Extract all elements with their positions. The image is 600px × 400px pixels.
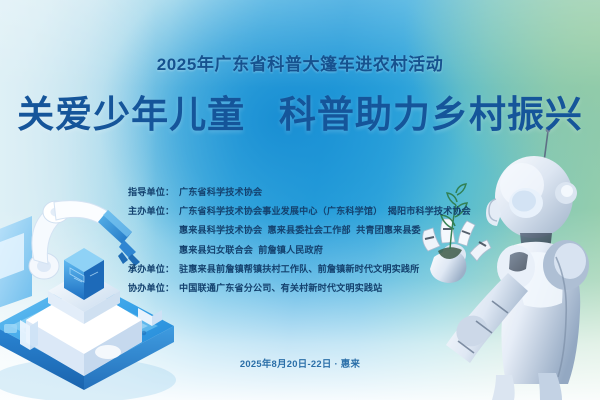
organizer-value: 驻惠来县前詹镇帮镇扶村工作队、前詹镇新时代文明实践所 (179, 263, 419, 276)
poster-content: 2025年广东省科普大篷车进农村活动 关爱少年儿童 科普助力乡村振兴 指导单位：… (0, 0, 600, 400)
organizer-row: 主办单位： 广东省科学技术协会事业发展中心（广东科学馆） 揭阳市科学技术协会 (128, 205, 528, 224)
organizer-value: 中国联通广东省分公司、有关村新时代文明实践站 (179, 282, 382, 295)
organizer-value: 惠来县科学技术协会 惠来县委社会工作部 共青团惠来县委 (179, 224, 421, 237)
organizer-row: 惠来县科学技术协会 惠来县委社会工作部 共青团惠来县委 (128, 224, 528, 243)
organizer-label: 指导单位： (128, 186, 179, 199)
organizer-value: 广东省科学技术协会事业发展中心（广东科学馆） 揭阳市科学技术协会 (179, 205, 471, 218)
event-kicker-title: 2025年广东省科普大篷车进农村活动 (0, 50, 600, 75)
organizer-row: 惠来县妇女联合会 前詹镇人民政府 (128, 244, 528, 263)
organizer-label: 主办单位： (128, 205, 179, 218)
organizer-value: 广东省科学技术协会 (179, 186, 262, 199)
poster-canvas: 2025年广东省科普大篷车进农村活动 关爱少年儿童 科普助力乡村振兴 指导单位：… (0, 0, 600, 400)
organizer-row: 指导单位： 广东省科学技术协会 (128, 186, 528, 205)
event-date-location: 2025年8月20日-22日 · 惠来 (0, 356, 600, 370)
organizer-row: 协办单位： 中国联通广东省分公司、有关村新时代文明实践站 (128, 282, 528, 301)
page-title: 关爱少年儿童 科普助力乡村振兴 (0, 93, 600, 137)
organizer-row: 承办单位： 驻惠来县前詹镇帮镇扶村工作队、前詹镇新时代文明实践所 (128, 263, 528, 282)
organizer-value: 惠来县妇女联合会 前詹镇人民政府 (179, 244, 323, 257)
organizer-label: 协办单位： (128, 282, 179, 295)
organizer-list: 指导单位： 广东省科学技术协会 主办单位： 广东省科学技术协会事业发展中心（广东… (128, 186, 528, 301)
organizer-label: 承办单位： (128, 263, 179, 276)
